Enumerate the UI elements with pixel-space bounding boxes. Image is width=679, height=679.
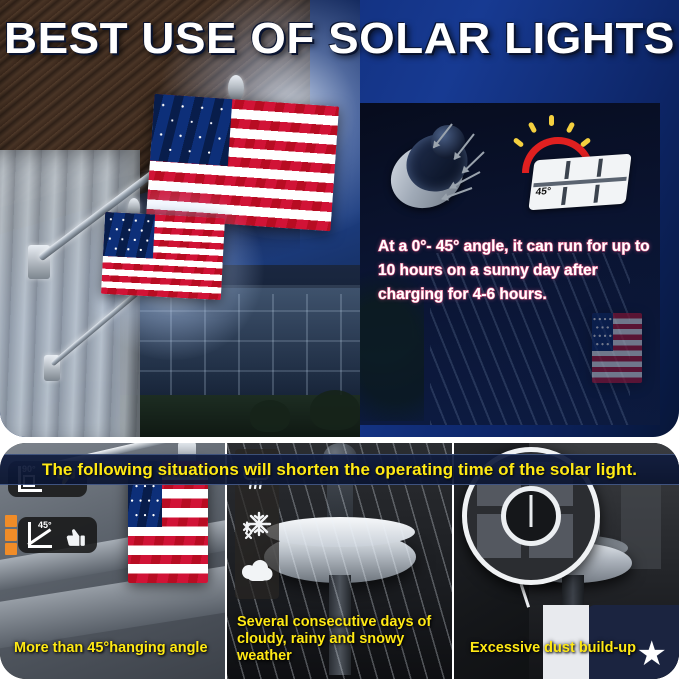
- panel-caption: Several consecutive days of cloudy, rain…: [237, 614, 452, 665]
- sun-ray-icon: [513, 137, 525, 148]
- angle-leg: [28, 545, 52, 548]
- panel-divider: [561, 187, 567, 205]
- american-flag-icon: [592, 313, 642, 383]
- solar-light-icon: [384, 117, 504, 227]
- thumbs-up-icon: [59, 522, 89, 548]
- warning-banner-text: The following situations will shorten th…: [42, 460, 637, 480]
- flag-wave-shading: [101, 212, 225, 300]
- bottom-section: 90° 45°: [0, 443, 679, 679]
- panel-hub: [501, 486, 561, 546]
- solar-light-head: [228, 75, 244, 101]
- hero-section: 45° At a 0°- 45° angle, it can run for u…: [0, 0, 679, 437]
- panel-caption: More than 45°hanging angle: [14, 640, 208, 657]
- snowflake-icon: [240, 510, 274, 542]
- panel-divider: [593, 185, 599, 203]
- star-glyph: ★: [637, 637, 667, 671]
- panel-angle-label: 45°: [535, 186, 552, 198]
- shrub: [250, 400, 290, 432]
- shrub: [310, 390, 360, 430]
- solar-panel-icon: 45°: [508, 111, 618, 216]
- panel-caption-line2: cloudy, rainy and snowy weather: [237, 631, 452, 665]
- hero-photo: [0, 0, 360, 437]
- american-flag-small: [101, 212, 225, 300]
- page-title: BEST USE OF SOLAR LIGHTS: [0, 14, 679, 64]
- info-card-description: At a 0°- 45° angle, it can run for up to…: [378, 235, 650, 307]
- sun-ray-icon: [566, 121, 576, 133]
- info-card: 45° At a 0°- 45° angle, it can run for u…: [360, 103, 660, 425]
- product-infographic: 45° At a 0°- 45° angle, it can run for u…: [0, 0, 679, 679]
- panel-grid: 45°: [528, 154, 631, 211]
- panel-divider: [564, 161, 570, 179]
- angle-leg: [18, 489, 42, 492]
- panel-caption-line1: Several consecutive days of: [237, 614, 452, 631]
- panel-divider: [597, 159, 603, 177]
- angle-45-icon: 45°: [26, 522, 54, 548]
- sun-ray-icon: [528, 121, 538, 133]
- badge-45-degrees: 45°: [18, 517, 97, 553]
- panel-caption: Excessive dust build-up: [470, 640, 636, 657]
- sun-ray-icon: [549, 115, 554, 126]
- orange-level-bars: [5, 515, 17, 555]
- flag-canton: [592, 313, 613, 351]
- cloud-icon: [240, 559, 274, 585]
- warning-banner: The following situations will shorten th…: [0, 454, 679, 485]
